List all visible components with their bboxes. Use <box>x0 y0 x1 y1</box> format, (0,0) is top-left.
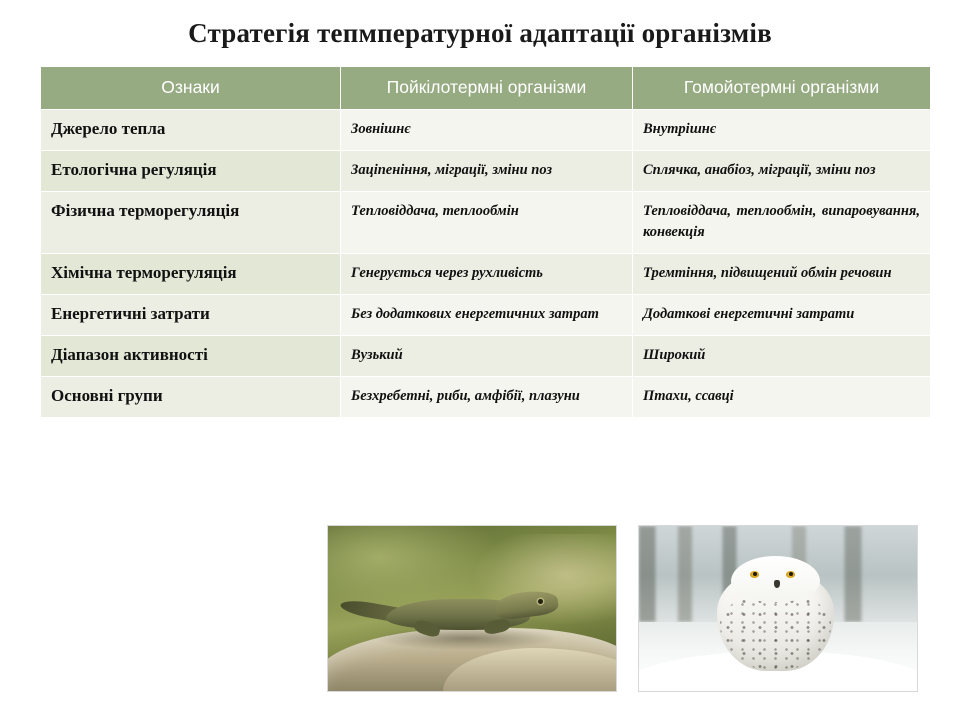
row-homeo-value: Внутрішнє <box>633 109 931 150</box>
row-feature-label: Основні групи <box>41 376 341 417</box>
comparison-table-wrapper: Ознаки Пойкілотермні організми Гомойотер… <box>40 66 930 418</box>
column-header-poikilotherms: Пойкілотермні організми <box>341 67 633 110</box>
owl-plumage-spots <box>720 595 831 669</box>
slide-root: Стратегія тепмпературної адаптації орган… <box>0 0 960 720</box>
table-row: Фізична терморегуляція Тепловіддача, теп… <box>41 191 931 253</box>
table-row: Діапазон активності Вузький Широкий <box>41 335 931 376</box>
table-row: Етологічна регуляція Заціпеніння, міграц… <box>41 150 931 191</box>
comparison-table: Ознаки Пойкілотермні організми Гомойотер… <box>40 66 931 418</box>
row-homeo-value: Тремтіння, підвищений обмін речовин <box>633 253 931 294</box>
owl-eye-right <box>786 571 795 578</box>
row-poikilo-value: Без додаткових енергетичних затрат <box>341 294 633 335</box>
row-poikilo-value: Генерується через рухливість <box>341 253 633 294</box>
table-header-row: Ознаки Пойкілотермні організми Гомойотер… <box>41 67 931 110</box>
row-poikilo-value: Заціпеніння, міграції, зміни поз <box>341 150 633 191</box>
table-row: Хімічна терморегуляція Генерується через… <box>41 253 931 294</box>
row-poikilo-value: Вузький <box>341 335 633 376</box>
row-homeo-value: Додаткові енергетичні затрати <box>633 294 931 335</box>
row-feature-label: Діапазон активності <box>41 335 341 376</box>
page-title: Стратегія тепмпературної адаптації орган… <box>0 18 960 49</box>
snowy-owl-photo <box>638 525 918 692</box>
owl-head <box>731 556 820 602</box>
lizard-photo <box>327 525 617 692</box>
owl-eye-left <box>750 571 759 578</box>
row-feature-label: Енергетичні затрати <box>41 294 341 335</box>
table-row: Джерело тепла Зовнішнє Внутрішнє <box>41 109 931 150</box>
row-feature-label: Фізична терморегуляція <box>41 191 341 253</box>
row-homeo-value: Тепловіддача, теплообмін, випаровування,… <box>633 191 931 253</box>
row-feature-label: Етологічна регуляція <box>41 150 341 191</box>
row-homeo-value: Птахи, ссавці <box>633 376 931 417</box>
table-head: Ознаки Пойкілотермні організми Гомойотер… <box>41 67 931 110</box>
row-poikilo-value: Безхребетні, риби, амфібії, плазуни <box>341 376 633 417</box>
column-header-features: Ознаки <box>41 67 341 110</box>
row-poikilo-value: Тепловіддача, теплообмін <box>341 191 633 253</box>
table-row: Енергетичні затрати Без додаткових енерг… <box>41 294 931 335</box>
table-body: Джерело тепла Зовнішнє Внутрішнє Етологі… <box>41 109 931 417</box>
lizard-shadow <box>374 627 558 650</box>
row-feature-label: Хімічна терморегуляція <box>41 253 341 294</box>
row-poikilo-value: Зовнішнє <box>341 109 633 150</box>
row-homeo-value: Сплячка, анабіоз, міграції, зміни поз <box>633 150 931 191</box>
row-feature-label: Джерело тепла <box>41 109 341 150</box>
lizard-eye <box>538 599 543 604</box>
column-header-homeotherms: Гомойотермні організми <box>633 67 931 110</box>
table-row: Основні групи Безхребетні, риби, амфібії… <box>41 376 931 417</box>
row-homeo-value: Широкий <box>633 335 931 376</box>
